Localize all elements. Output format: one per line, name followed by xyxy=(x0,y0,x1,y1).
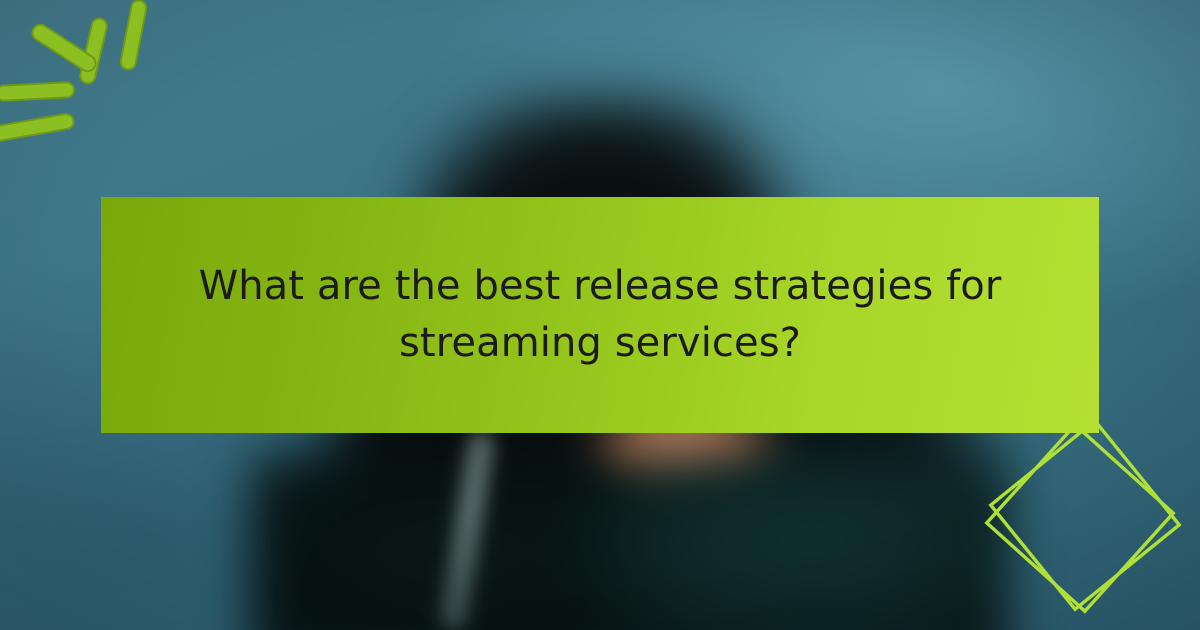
social-card: What are the best release strategies for… xyxy=(0,0,1200,630)
sunburst-icon xyxy=(0,0,230,170)
page-title: What are the best release strategies for… xyxy=(171,258,1029,372)
headline-banner: What are the best release strategies for… xyxy=(101,197,1099,433)
